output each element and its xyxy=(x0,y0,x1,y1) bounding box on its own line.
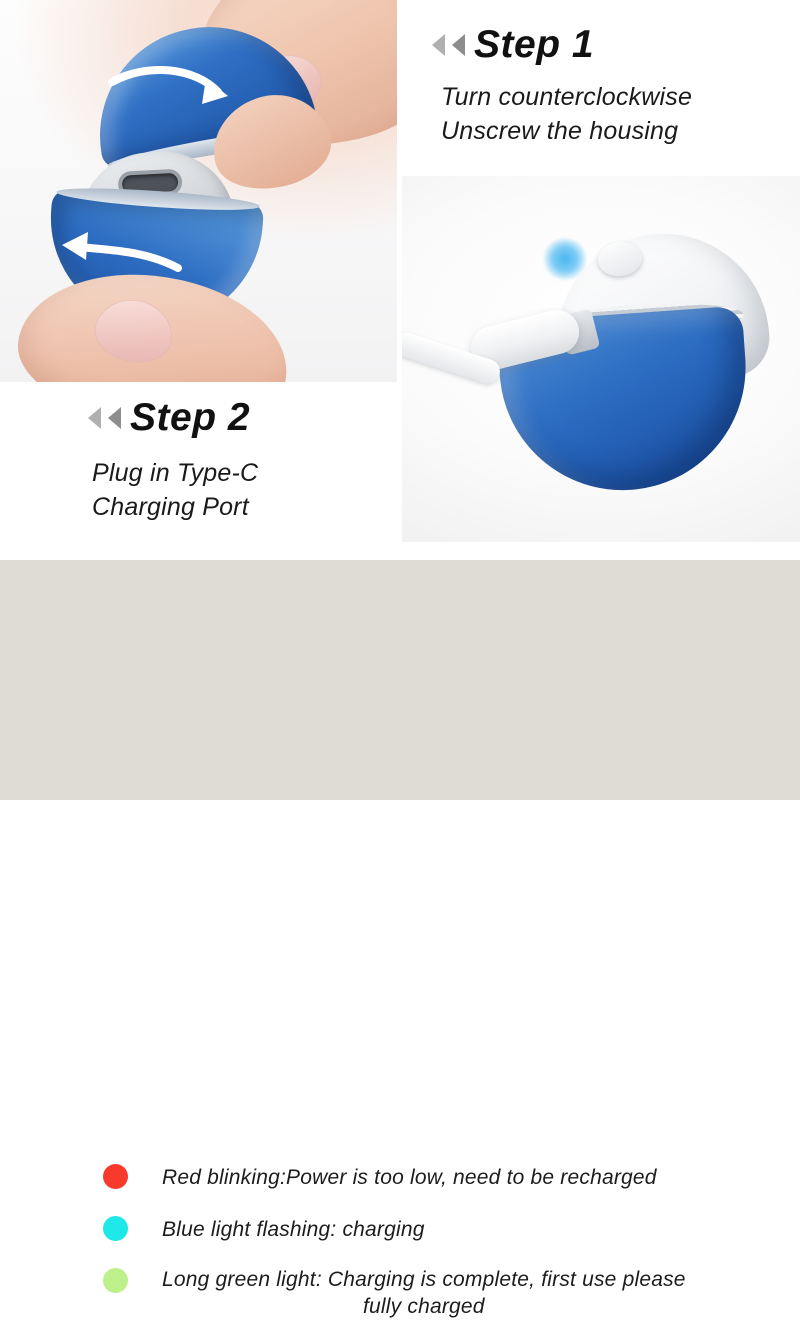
legend-row-red: Red blinking:Power is too low, need to b… xyxy=(103,1164,657,1191)
step-2-heading: Step 2 xyxy=(88,398,250,437)
step-1-heading: Step 1 xyxy=(432,25,594,64)
blue-status-dot xyxy=(103,1216,128,1241)
rotation-arrows xyxy=(0,0,397,382)
photo-ball-disassembly xyxy=(0,0,397,382)
caret-left-icon-inner xyxy=(452,34,465,56)
step-2-title: Step 2 xyxy=(130,398,250,437)
green-status-dot xyxy=(103,1268,128,1293)
step-2-body: Plug in Type-C Charging Port xyxy=(92,456,258,524)
step-1-body: Turn counterclockwise Unscrew the housin… xyxy=(441,80,692,148)
red-status-dot xyxy=(103,1164,128,1189)
legend-text-red: Red blinking:Power is too low, need to b… xyxy=(162,1164,657,1191)
caret-left-icon-outer xyxy=(88,407,101,429)
caret-left-icon-outer xyxy=(432,34,445,56)
legend-row-green: Long green light: Charging is complete, … xyxy=(103,1268,686,1321)
photo-usb-charging xyxy=(402,176,800,542)
legend-row-blue: Blue light flashing: charging xyxy=(103,1216,425,1243)
instruction-graphic: Step 1 Turn counterclockwise Unscrew the… xyxy=(0,0,800,800)
legend-text-green: Long green light: Charging is complete, … xyxy=(162,1266,686,1321)
legend-text-blue: Blue light flashing: charging xyxy=(162,1216,425,1243)
step-1-title: Step 1 xyxy=(474,25,594,64)
status-legend-band: Red blinking:Power is too low, need to b… xyxy=(0,560,800,800)
caret-left-icon-inner xyxy=(108,407,121,429)
